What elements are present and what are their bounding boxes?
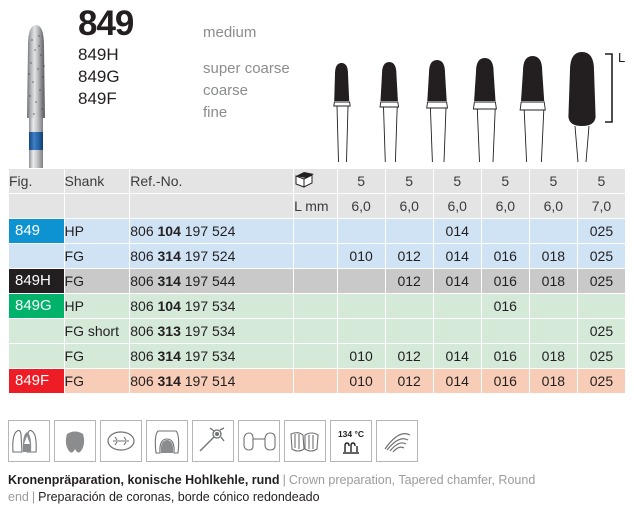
size-3: 014 [434,219,481,243]
fig-chip [9,319,64,343]
fig-chip [9,344,64,368]
header-shank: Shank [65,169,130,193]
size-1: 010 [338,244,385,268]
size-3 [434,294,481,318]
figure-numbers: 849 849H 849G 849F [78,4,208,110]
size-4 [482,319,529,343]
size-3 [434,319,481,343]
caption: Kronenpräparation, konische Hohlkehle, r… [8,472,628,506]
denture-icon [284,420,326,462]
header-fig: Fig. [9,169,64,193]
size-5: 018 [530,344,577,368]
figure-variant-849F: 849F [78,88,208,110]
size-4: 016 [482,269,529,293]
header-ref-no: Ref.-No. [130,169,293,193]
size-2 [386,319,433,343]
ref-no-value: 806 314 197 534 [130,344,293,368]
figure-main-number: 849 [78,4,208,44]
ref-no-value: 806 104 197 524 [130,219,293,243]
size-5: 018 [530,369,577,393]
size-3: 014 [434,269,481,293]
size-6: 025 [578,369,625,393]
size-2: 012 [386,244,433,268]
grit-fine: fine [203,102,323,124]
specification-table: Fig. Shank Ref.-No. 5 5 5 5 5 5 [8,168,626,394]
bur-shape-diagrams: L [312,30,634,168]
ref-no-value: 806 104 197 534 [130,294,293,318]
grit-coarse: coarse [203,80,323,102]
size-6: 025 [578,344,625,368]
length-unit-label: L mm [294,194,336,218]
size-3: 014 [434,344,481,368]
shank-value: FG [65,344,130,368]
bur-photo [14,22,58,168]
pack-count-6: 5 [578,169,625,193]
ref-no-value: 806 314 197 514 [130,369,293,393]
table-length-row: L mm 6,0 6,0 6,0 6,0 6,0 7,0 [9,194,625,218]
ref-no-value: 806 314 197 524 [130,244,293,268]
open-box-icon [294,169,336,193]
grit-medium: medium [203,22,323,44]
table-row[interactable]: FG 806 314 197 534 010 012 014 016 018 0… [9,344,625,368]
grit-super-coarse: super coarse [203,58,323,80]
fig-chip: 849 [9,219,64,243]
size-4: 016 [482,294,529,318]
shank-value: FG [65,369,130,393]
size-2 [386,219,433,243]
bridge-icon [238,420,280,462]
occlusal-surface-icon [100,420,142,462]
figure-variant-849H: 849H [78,44,208,66]
size-1 [338,269,385,293]
size-5 [530,294,577,318]
caption-es: Preparación de coronas, borde cónico red… [38,490,319,504]
size-4: 016 [482,344,529,368]
tooth-root-section-icon [146,420,188,462]
size-2: 012 [386,369,433,393]
svg-text:134 °C: 134 °C [338,429,364,439]
fig-chip [9,244,64,268]
tooth-crown-prep-icon [8,420,50,462]
size-1: 010 [338,344,385,368]
size-1: 010 [338,369,385,393]
size-6: 025 [578,219,625,243]
fig-chip: 849H [9,269,64,293]
size-1 [338,294,385,318]
ref-no-value: 806 314 197 544 [130,269,293,293]
size-1 [338,319,385,343]
pack-count-4: 5 [482,169,529,193]
figure-variant-849G: 849G [78,66,208,88]
header-section: 849 849H 849G 849F medium super coarse c… [0,0,634,168]
ref-no-value: 806 313 197 534 [130,319,293,343]
table-row[interactable]: 849F FG 806 314 197 514 010 012 014 016 … [9,369,625,393]
size-5 [530,319,577,343]
pack-count-5: 5 [530,169,577,193]
size-6: 025 [578,244,625,268]
table-header-row: Fig. Shank Ref.-No. 5 5 5 5 5 5 [9,169,625,193]
sterilizable-134c-icon: 134 °C [330,420,372,462]
table-row[interactable]: FG short 806 313 197 534 025 [9,319,625,343]
fig-chip: 849G [9,294,64,318]
table-row[interactable]: 849H FG 806 314 197 544 012 014 016 018 … [9,269,625,293]
ultrasonic-cleaning-icon [376,420,418,462]
handpiece-icon [192,420,234,462]
size-6: 025 [578,319,625,343]
indication-icon-strip: 134 °C [8,420,418,464]
size-1 [338,219,385,243]
table-row[interactable]: FG 806 314 197 524 010 012 014 016 018 0… [9,244,625,268]
size-2: 012 [386,269,433,293]
pack-count-1: 5 [338,169,385,193]
shank-value: FG short [65,319,130,343]
shank-value: FG [65,269,130,293]
fig-chip: 849F [9,369,64,393]
length-bracket-label: L [618,50,625,65]
size-6 [578,294,625,318]
pack-count-2: 5 [386,169,433,193]
size-2 [386,294,433,318]
tooth-filled-icon [54,420,96,462]
shank-value: FG [65,244,130,268]
size-3: 014 [434,369,481,393]
caption-separator-2: | [29,490,38,504]
grit-labels: medium super coarse coarse fine [203,22,323,124]
length-6: 7,0 [578,194,625,218]
length-5: 6,0 [530,194,577,218]
length-4: 6,0 [482,194,529,218]
length-1: 6,0 [338,194,385,218]
table-row[interactable]: 849 HP 806 104 197 524 014 025 [9,219,625,243]
size-2: 012 [386,344,433,368]
length-3: 6,0 [434,194,481,218]
shank-value: HP [65,219,130,243]
product-sheet: 849 849H 849G 849F medium super coarse c… [0,0,634,525]
size-5: 018 [530,269,577,293]
size-4 [482,219,529,243]
shank-value: HP [65,294,130,318]
size-6: 025 [578,269,625,293]
size-5 [530,219,577,243]
size-4: 016 [482,244,529,268]
table-row[interactable]: 849G HP 806 104 197 534 016 [9,294,625,318]
caption-de: Kronenpräparation, konische Hohlkehle, r… [8,473,280,487]
caption-separator-1: | [280,473,289,487]
size-5: 018 [530,244,577,268]
pack-count-3: 5 [434,169,481,193]
size-3: 014 [434,244,481,268]
length-2: 6,0 [386,194,433,218]
size-4: 016 [482,369,529,393]
